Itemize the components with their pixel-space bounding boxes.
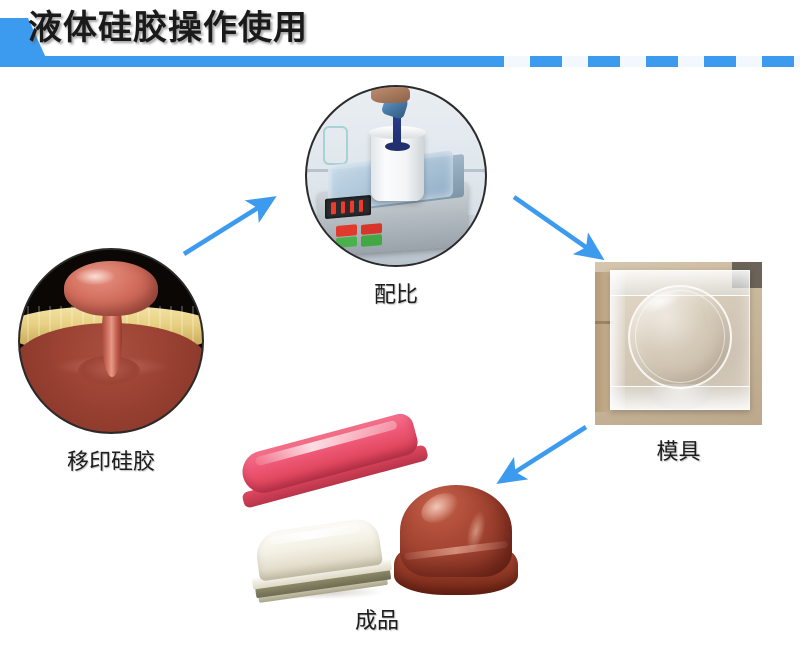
flow-node-products[interactable]: 成品 <box>232 425 522 625</box>
arrow-ratio-to-mold <box>514 197 600 257</box>
flow-node-mold-label: 模具 <box>595 434 762 466</box>
flow-node-silicone-label: 移印硅胶 <box>18 444 204 476</box>
mold-photo <box>595 262 762 425</box>
header-rule-dashed <box>472 56 800 67</box>
header-rule-solid <box>0 56 472 67</box>
flow-node-ratio[interactable]: 配比 <box>305 85 487 267</box>
page-root: 液体硅胶操作使用 移印硅胶 <box>0 0 800 650</box>
arrow-silicone-to-ratio <box>184 199 272 254</box>
product-red-dome-pad <box>394 485 518 597</box>
flow-node-products-label: 成品 <box>232 603 522 635</box>
silicone-photo <box>18 248 204 434</box>
flow-node-mold[interactable]: 模具 <box>595 262 762 425</box>
flow-node-ratio-label: 配比 <box>305 277 487 309</box>
products-photo <box>232 425 522 625</box>
page-title: 液体硅胶操作使用 <box>28 6 308 50</box>
page-header: 液体硅胶操作使用 <box>0 0 800 72</box>
flow-node-silicone[interactable]: 移印硅胶 <box>18 248 204 434</box>
ratio-photo <box>305 85 487 267</box>
